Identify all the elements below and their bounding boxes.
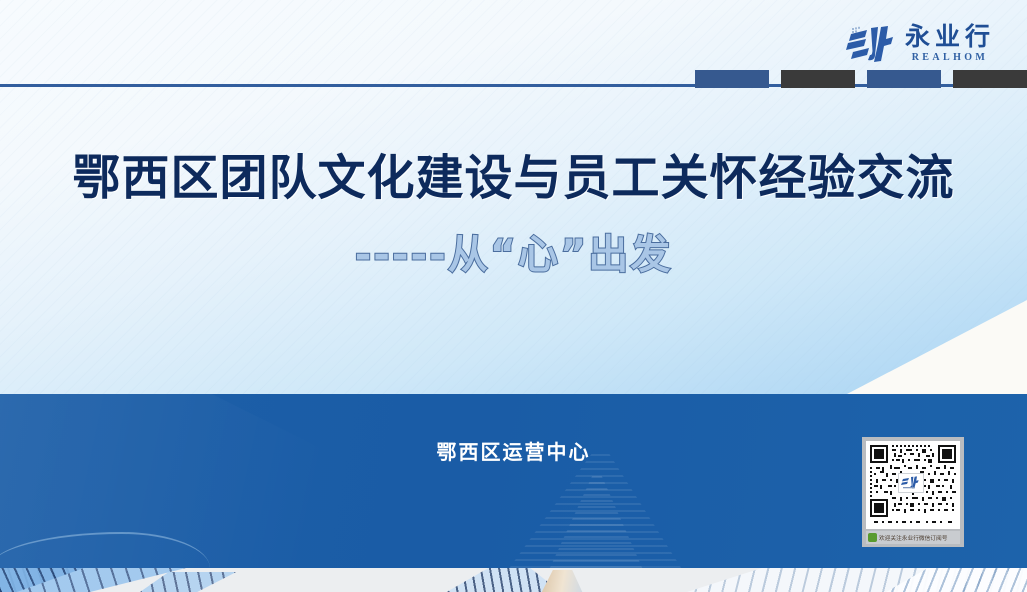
title-block: 鄂西区团队文化建设与员工关怀经验交流 -----从“心”出发 — [0, 138, 1027, 280]
qr-code-card[interactable]: 欢迎关注永业行微信订阅号 — [862, 437, 964, 547]
brand-logo: 永业行 REALHOM — [845, 24, 995, 63]
accent-block-4 — [953, 70, 1027, 88]
page-title: 鄂西区团队文化建设与员工关怀经验交流 — [0, 138, 1027, 208]
accent-block-row — [695, 70, 1027, 88]
title-slide: 永业行 REALHOM 鄂西区团队文化建设与员工关怀经验交流 -----从“心”… — [0, 0, 1027, 592]
qr-caption-text: 欢迎关注永业行微信订阅号 — [879, 533, 947, 542]
page-subtitle: -----从“心”出发 — [0, 222, 1027, 280]
accent-block-2 — [781, 70, 855, 88]
brand-name-cn: 永业行 — [905, 24, 995, 49]
accent-block-3 — [867, 70, 941, 88]
glass-facade-left-mid — [140, 572, 270, 592]
glass-facade-warm-accent — [540, 570, 586, 592]
yh-monogram-icon — [845, 25, 897, 63]
glass-facade-center — [420, 568, 610, 592]
brand-wordmark: 永业行 REALHOM — [905, 24, 995, 63]
wechat-icon — [868, 533, 877, 542]
building-photo-strip — [0, 568, 1027, 592]
qr-code-caption: 欢迎关注永业行微信订阅号 — [866, 531, 960, 544]
yh-monogram-icon — [898, 473, 924, 493]
brand-name-en: REALHOM — [912, 53, 989, 63]
accent-block-1 — [695, 70, 769, 88]
